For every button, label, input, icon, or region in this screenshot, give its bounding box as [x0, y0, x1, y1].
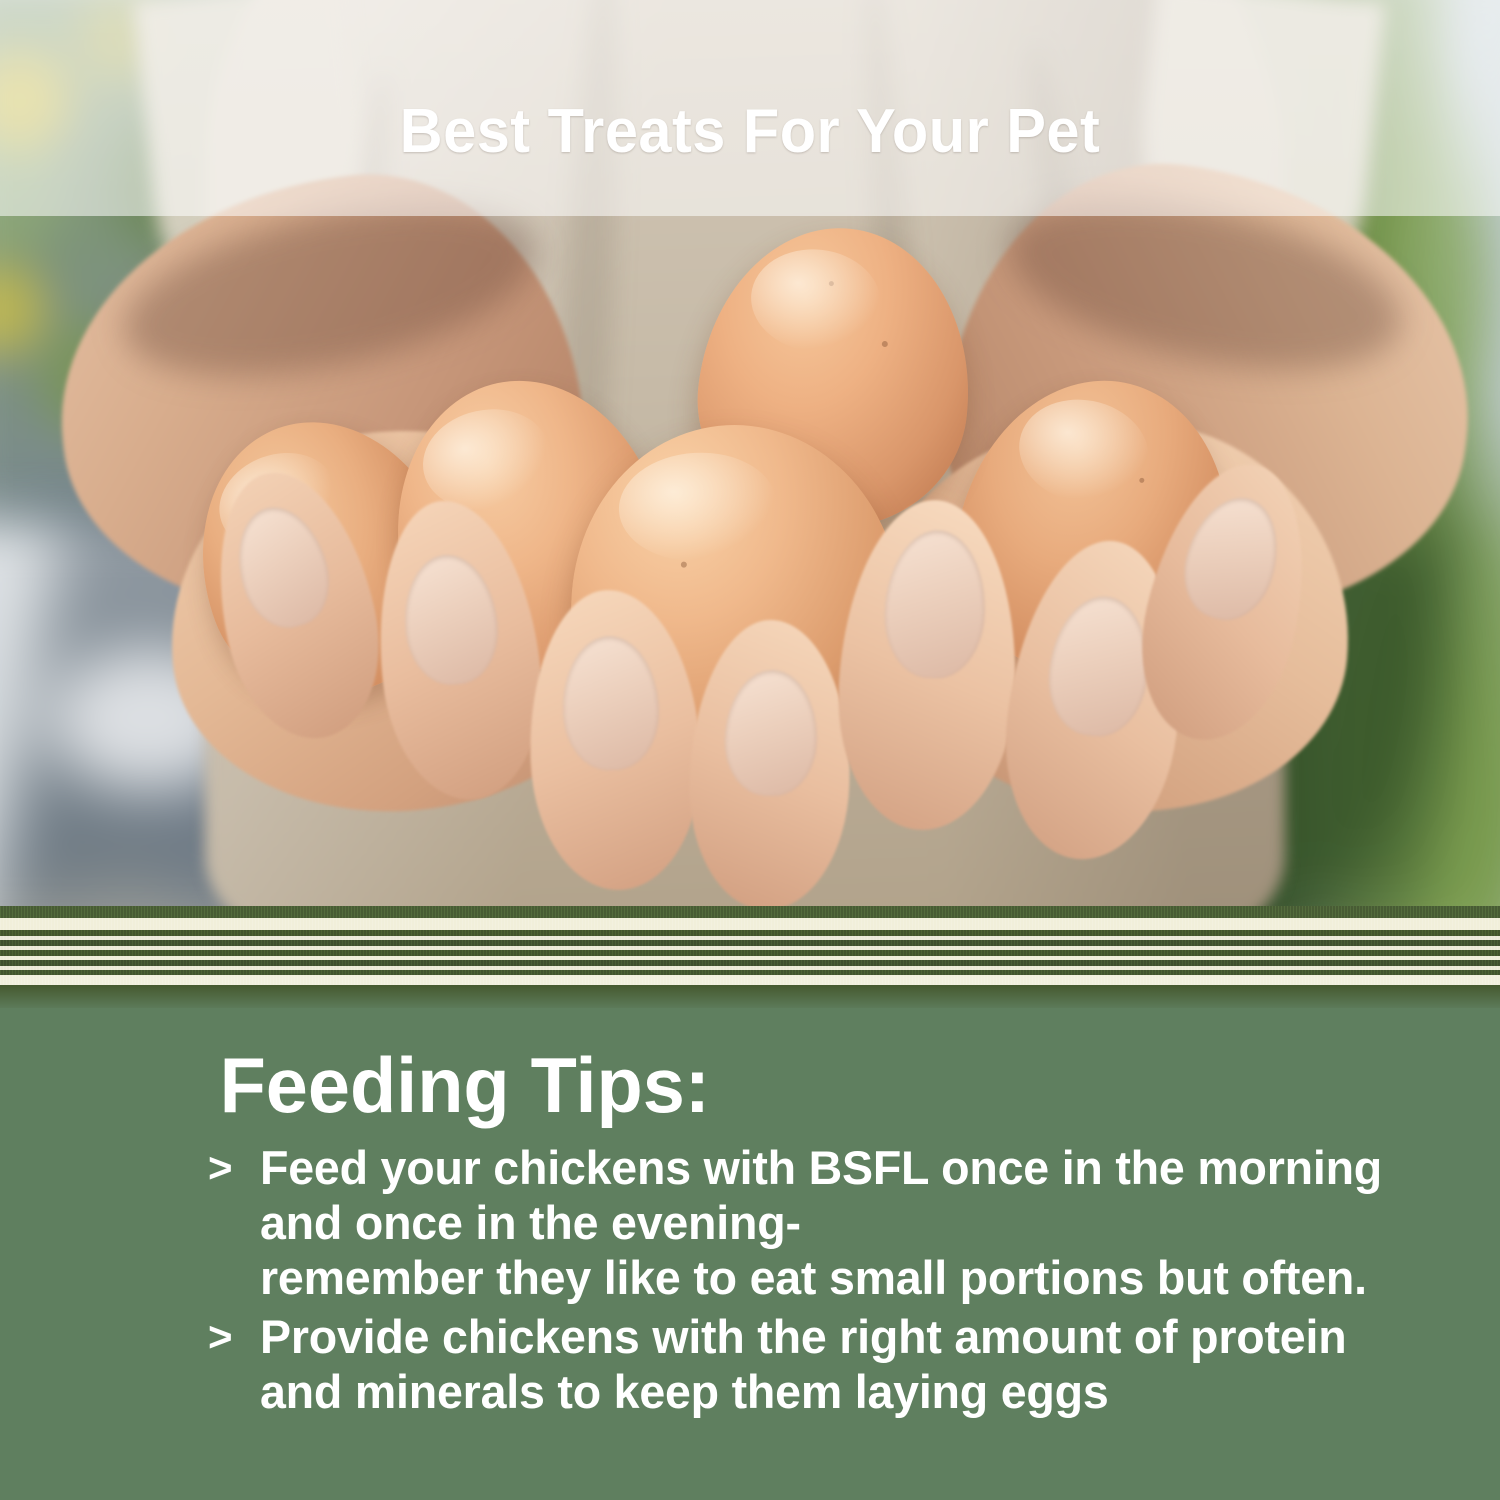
fingernail — [1172, 486, 1292, 630]
section-heading: Feeding Tips: — [220, 1040, 710, 1131]
fingernail — [560, 634, 661, 771]
fingernail — [1042, 591, 1156, 742]
egg-speck — [681, 562, 687, 568]
list-item-text: Feed your chickens with BSFL once in the… — [260, 1140, 1397, 1305]
poster-root: Best Treats For Your Pet Feeding Tips: >… — [0, 0, 1500, 1500]
fingernail — [225, 497, 341, 638]
bullet-marker-icon: > — [208, 1140, 260, 1195]
fingernail — [723, 668, 819, 797]
list-item-text: Provide chickens with the right amount o… — [260, 1309, 1397, 1419]
feeding-tips-list: > Feed your chickens with BSFL once in t… — [208, 1140, 1408, 1423]
egg-speck — [882, 341, 889, 348]
egg-speck — [1139, 477, 1145, 483]
egg-speck — [828, 281, 833, 286]
fingernail — [881, 528, 989, 681]
list-item: > Feed your chickens with BSFL once in t… — [208, 1140, 1408, 1305]
bullet-marker-icon: > — [208, 1309, 260, 1364]
list-item: > Provide chickens with the right amount… — [208, 1309, 1408, 1419]
page-title: Best Treats For Your Pet — [30, 96, 1470, 167]
fingernail — [398, 550, 503, 689]
